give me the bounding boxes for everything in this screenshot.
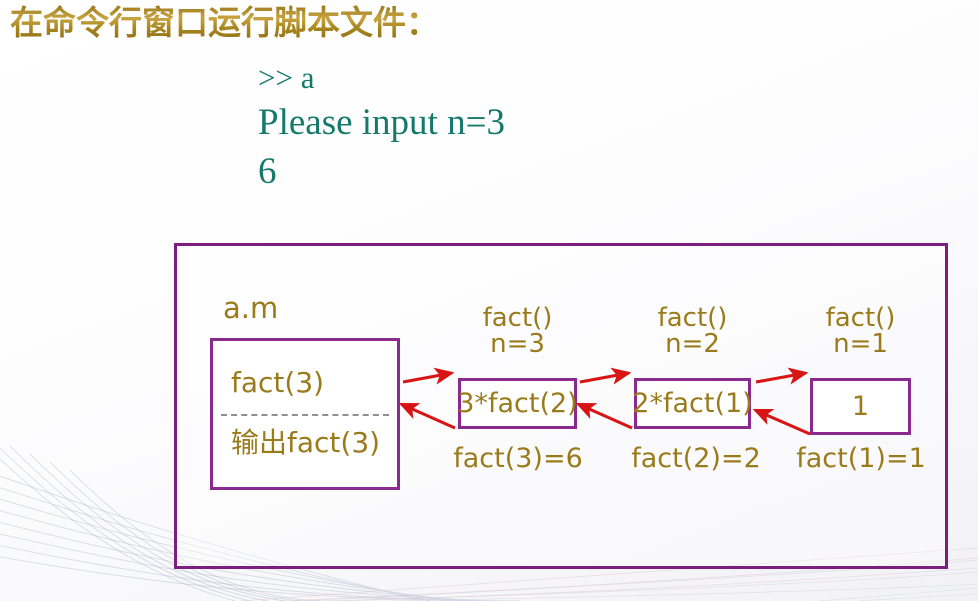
frame-header-2-line2: n=2 — [634, 331, 751, 357]
terminal-line-result: 6 — [258, 147, 505, 196]
frame-result-2: fact(2)=2 — [618, 444, 774, 474]
frame-header-3: fact() n=1 — [808, 305, 913, 357]
call-frame-box-3: 1 — [810, 378, 911, 435]
script-box: fact(3) 输出fact(3) — [210, 338, 400, 490]
terminal-output: >> a Please input n=3 6 — [258, 58, 505, 196]
frame-result-3: fact(1)=1 — [788, 444, 934, 474]
script-box-output-text: 输出fact(3) — [231, 427, 380, 459]
terminal-line-prompt: >> a — [258, 58, 505, 98]
script-file-label: a.m — [223, 292, 278, 325]
frame-result-1: fact(3)=6 — [440, 444, 596, 474]
slide-title: 在命令行窗口运行脚本文件： — [10, 2, 439, 44]
script-box-call-text: fact(3) — [231, 367, 324, 399]
frame-header-3-line2: n=1 — [808, 331, 913, 357]
frame-header-1: fact() n=3 — [458, 305, 577, 357]
frame-header-1-line2: n=3 — [458, 331, 577, 357]
terminal-line-input: Please input n=3 — [258, 98, 505, 147]
script-box-divider — [221, 414, 389, 416]
call-frame-box-2: 2*fact(1) — [634, 378, 751, 429]
frame-header-2: fact() n=2 — [634, 305, 751, 357]
call-frame-box-1: 3*fact(2) — [458, 378, 577, 429]
slide-canvas: 在命令行窗口运行脚本文件： >> a Please input n=3 6 a.… — [0, 0, 978, 601]
